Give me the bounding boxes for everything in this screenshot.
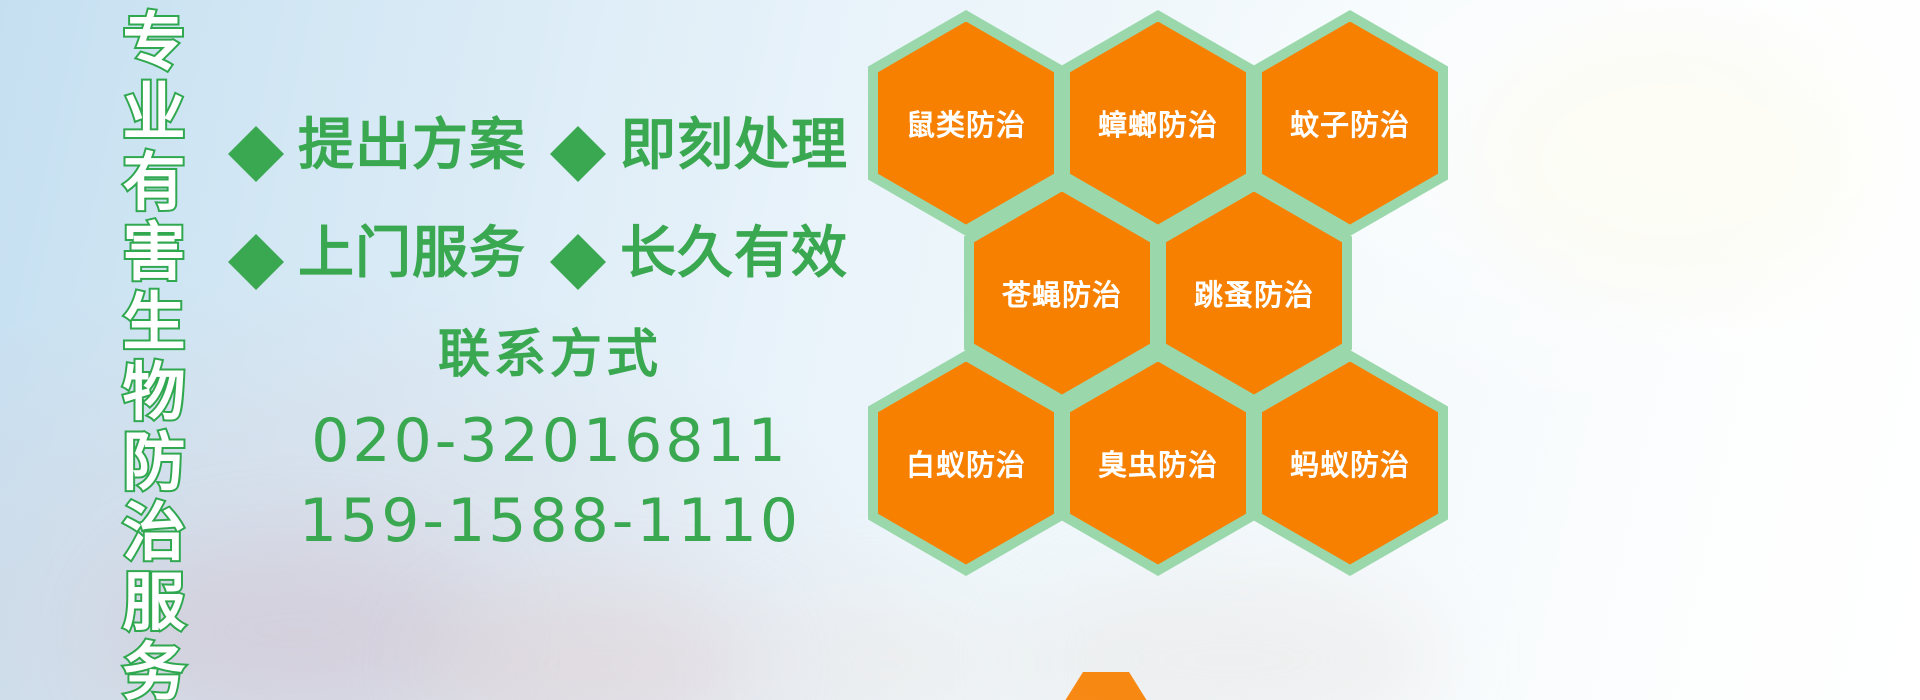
service-honeycomb: 鼠类防治 蟑螂防治 蚊子防治 苍蝇防治 跳蚤防治 白蚁防治 xyxy=(862,0,1482,700)
vertical-slogan-char: 服 xyxy=(123,568,186,638)
hex-inner: 蟑螂防治 xyxy=(1070,22,1246,225)
service-label: 蚊子防治 xyxy=(1290,102,1410,144)
vertical-slogan-char: 治 xyxy=(123,498,186,568)
service-label: 蚂蚁防治 xyxy=(1290,442,1410,484)
hex-inner: 蚂蚁防治 xyxy=(1262,362,1438,565)
feature-label: 长久有效 xyxy=(620,208,848,289)
diamond-icon xyxy=(228,206,284,262)
service-label: 苍蝇防治 xyxy=(1002,272,1122,314)
vertical-slogan-char: 生 xyxy=(123,288,186,358)
feature-label: 上门服务 xyxy=(298,208,526,289)
background-blur-blob xyxy=(430,590,760,700)
service-label: 蟑螂防治 xyxy=(1098,102,1218,144)
background-blur-blob xyxy=(1480,30,1860,290)
feature-item: 提出方案 xyxy=(228,100,526,181)
feature-item: 长久有效 xyxy=(550,208,848,289)
feature-list: 提出方案 即刻处理 上门服务 长久有效 xyxy=(228,86,878,302)
contact-phone-landline[interactable]: 020-32016811 xyxy=(250,401,850,481)
feature-row: 上门服务 长久有效 xyxy=(228,194,878,302)
pest-control-banner: 专 业 有 害 生 物 防 治 服 务 提出方案 即刻处理 上门服务 xyxy=(0,0,1920,700)
vertical-slogan-char: 业 xyxy=(123,78,186,148)
feature-item: 即刻处理 xyxy=(550,100,848,181)
feature-label: 提出方案 xyxy=(298,100,526,181)
vertical-slogan-char: 有 xyxy=(123,148,186,218)
diamond-icon xyxy=(228,98,284,154)
vertical-slogan-char: 物 xyxy=(123,358,186,428)
service-label: 白蚁防治 xyxy=(906,442,1026,484)
vertical-slogan-char: 防 xyxy=(123,428,186,498)
hex-inner: 跳蚤防治 xyxy=(1166,192,1342,395)
contact-block: 联系方式 020-32016811 159-1588-1110 xyxy=(250,312,850,561)
service-label: 跳蚤防治 xyxy=(1194,272,1314,314)
service-label: 臭虫防治 xyxy=(1098,442,1218,484)
feature-item: 上门服务 xyxy=(228,208,526,289)
hex-inner: 蚊子防治 xyxy=(1262,22,1438,225)
hex-inner: 臭虫防治 xyxy=(1070,362,1246,565)
contact-title: 联系方式 xyxy=(250,312,850,387)
hex-inner: 苍蝇防治 xyxy=(974,192,1150,395)
vertical-slogan-char: 害 xyxy=(123,218,186,288)
vertical-slogan-char: 专 xyxy=(123,8,186,78)
diamond-icon xyxy=(550,206,606,262)
hex-inner: 白蚁防治 xyxy=(878,362,1054,565)
feature-label: 即刻处理 xyxy=(620,100,848,181)
service-label: 鼠类防治 xyxy=(906,102,1026,144)
vertical-slogan: 专 业 有 害 生 物 防 治 服 务 xyxy=(108,8,200,568)
feature-row: 提出方案 即刻处理 xyxy=(228,86,878,194)
hex-inner: 鼠类防治 xyxy=(878,22,1054,225)
diamond-icon xyxy=(550,98,606,154)
contact-phone-mobile[interactable]: 159-1588-1110 xyxy=(250,481,850,561)
vertical-slogan-char: 务 xyxy=(123,638,186,700)
